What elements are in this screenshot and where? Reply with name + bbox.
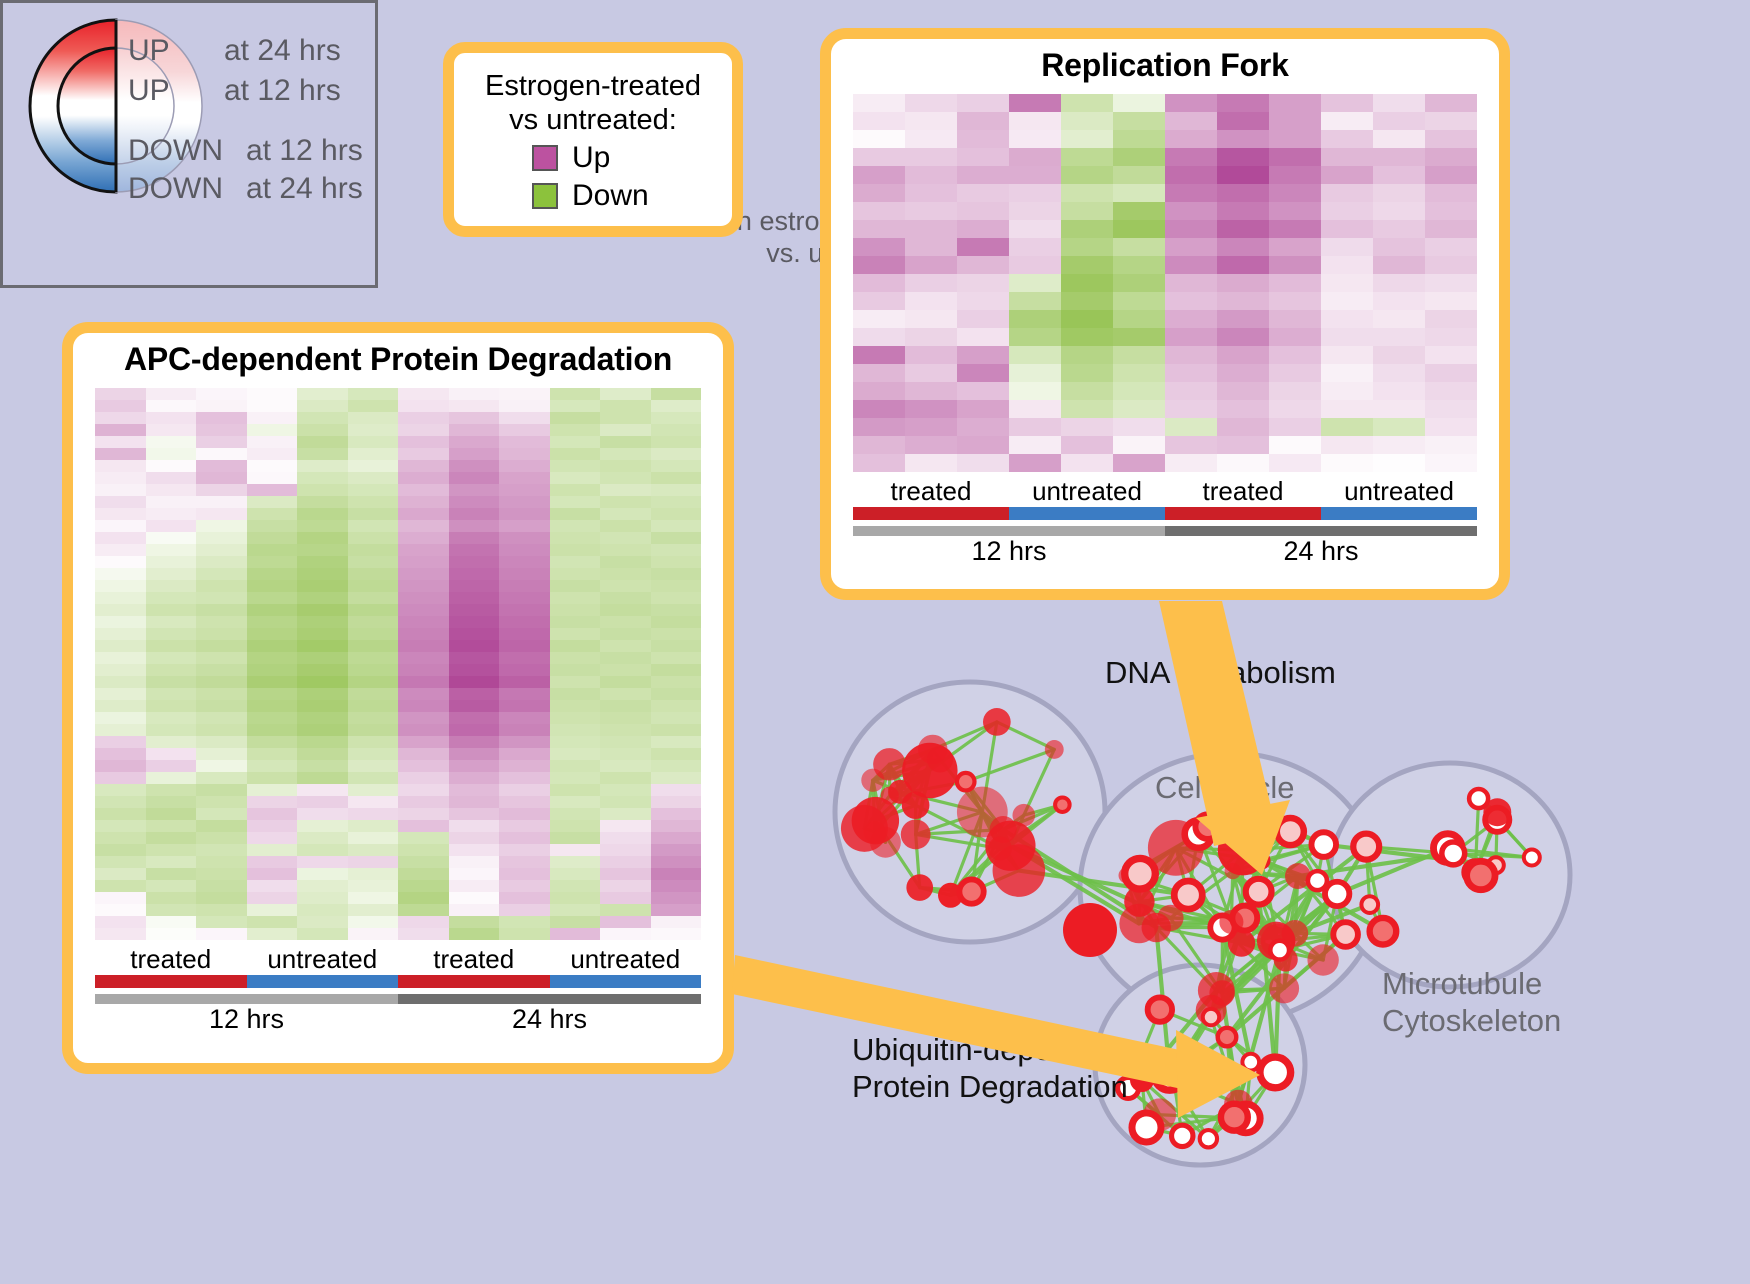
arrow-head-apc	[1176, 1030, 1260, 1118]
arrow-apc-to-ubiquitin	[732, 955, 1203, 1092]
connector-arrows	[0, 0, 1750, 1279]
